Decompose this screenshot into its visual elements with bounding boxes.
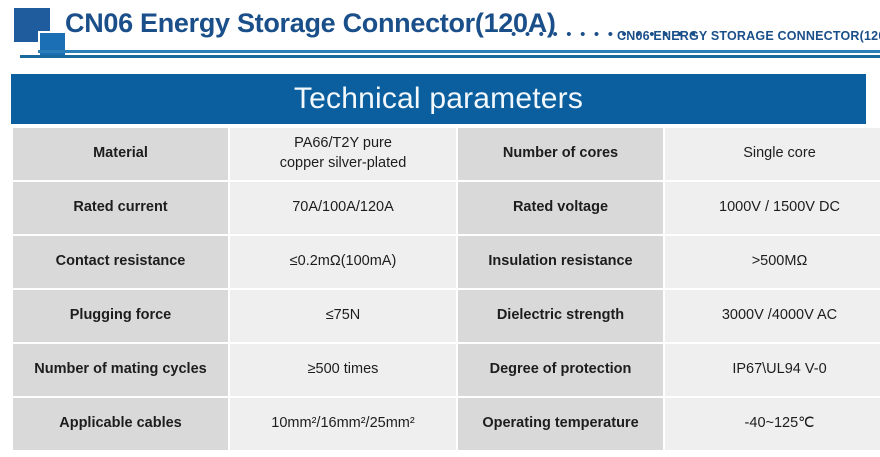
header-rule-upper	[38, 50, 880, 53]
param-label: Applicable cables	[13, 398, 228, 450]
param-label: Dielectric strength	[458, 290, 663, 342]
param-value: >500MΩ	[665, 236, 880, 288]
param-value: 1000V / 1500V DC	[665, 182, 880, 234]
param-label: Plugging force	[13, 290, 228, 342]
technical-parameters-table: Material PA66/T2Y pure copper silver-pla…	[11, 126, 880, 452]
param-label: Rated current	[13, 182, 228, 234]
param-label: Number of mating cycles	[13, 344, 228, 396]
page-title: CN06 Energy Storage Connector(120A)	[65, 8, 556, 39]
param-value-line1: PA66/T2Y pure	[294, 135, 392, 151]
logo-square-small-icon	[38, 31, 67, 57]
param-value: ≤0.2mΩ(100mA)	[230, 236, 456, 288]
param-label: Operating temperature	[458, 398, 663, 450]
table-row: Plugging force ≤75N Dielectric strength …	[13, 290, 880, 342]
param-label: Insulation resistance	[458, 236, 663, 288]
param-value: PA66/T2Y pure copper silver-plated	[230, 128, 456, 180]
param-label: Contact resistance	[13, 236, 228, 288]
param-label: Number of cores	[458, 128, 663, 180]
header-rule-lower	[20, 55, 880, 58]
table-row: Number of mating cycles ≥500 times Degre…	[13, 344, 880, 396]
table-row: Applicable cables 10mm²/16mm²/25mm² Oper…	[13, 398, 880, 450]
table-row: Material PA66/T2Y pure copper silver-pla…	[13, 128, 880, 180]
param-value: -40~125℃	[665, 398, 880, 450]
param-label: Material	[13, 128, 228, 180]
param-value: 10mm²/16mm²/25mm²	[230, 398, 456, 450]
param-value: 3000V /4000V AC	[665, 290, 880, 342]
table-row: Contact resistance ≤0.2mΩ(100mA) Insulat…	[13, 236, 880, 288]
page-subtitle: CN06 ENERGY STORAGE CONNECTOR(120A)	[617, 29, 880, 43]
param-value: ≤75N	[230, 290, 456, 342]
table-row: Rated current 70A/100A/120A Rated voltag…	[13, 182, 880, 234]
param-label: Rated voltage	[458, 182, 663, 234]
param-value: 70A/100A/120A	[230, 182, 456, 234]
param-label: Degree of protection	[458, 344, 663, 396]
page-header: CN06 Energy Storage Connector(120A) • • …	[0, 0, 880, 62]
section-title-bar: Technical parameters	[11, 74, 866, 124]
param-value: Single core	[665, 128, 880, 180]
param-value: ≥500 times	[230, 344, 456, 396]
param-value: IP67\UL94 V-0	[665, 344, 880, 396]
param-value-line2: copper silver-plated	[280, 155, 407, 171]
